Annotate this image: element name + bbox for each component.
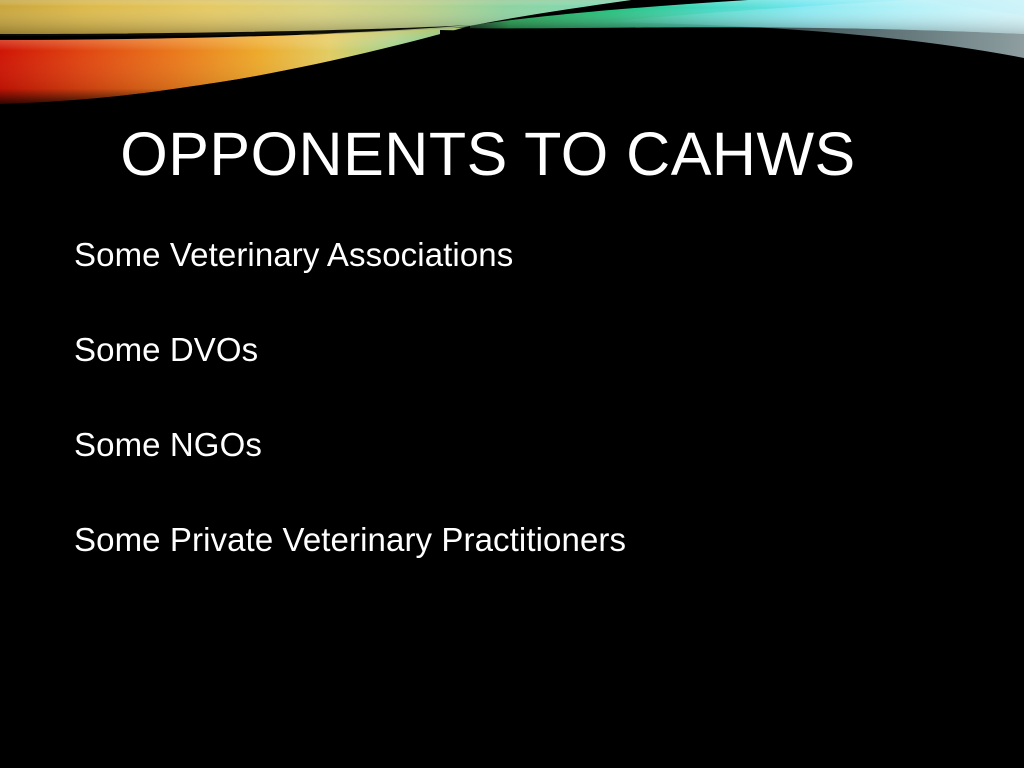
slide-title: Opponents to CAHWs bbox=[0, 122, 1024, 186]
banner-right-wisp bbox=[930, 0, 1024, 16]
banner-graphic bbox=[0, 0, 1024, 130]
banner-cyan-glow bbox=[600, 0, 1024, 58]
body-line-3: Some NGOs bbox=[74, 428, 954, 523]
presentation-slide: Opponents to CAHWs Some Veterinary Assoc… bbox=[0, 0, 1024, 768]
body-line-4: Some Private Veterinary Practitioners bbox=[74, 523, 954, 556]
body-line-1: Some Veterinary Associations bbox=[74, 238, 954, 333]
banner-gold-shading bbox=[0, 0, 700, 36]
body-line-2: Some DVOs bbox=[74, 333, 954, 428]
slide-body: Some Veterinary Associations Some DVOs S… bbox=[74, 238, 954, 556]
horizon-ribbon-banner bbox=[0, 0, 1024, 130]
banner-left-lower-mask bbox=[0, 26, 470, 130]
banner-red-ribbon bbox=[0, 27, 470, 106]
banner-background bbox=[0, 0, 1024, 130]
banner-gold-ribbon bbox=[0, 0, 700, 36]
banner-divider-sliver bbox=[0, 25, 470, 40]
banner-cyan-ribbon bbox=[452, 0, 1024, 34]
banner-cyan-shading bbox=[452, 0, 1024, 34]
banner-red-shading bbox=[0, 27, 470, 106]
banner-lower-mask bbox=[440, 30, 1024, 130]
